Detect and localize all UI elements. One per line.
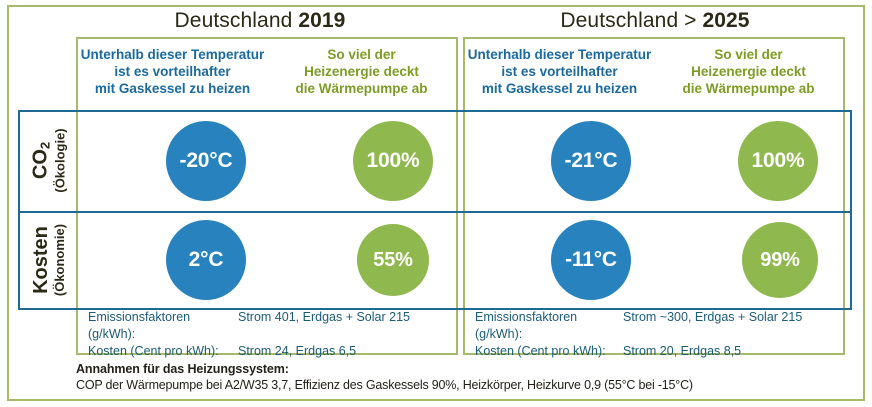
footnote-left-cost-value: Strom 24, Erdgas 6,5 bbox=[238, 343, 456, 360]
footnote-right-cost-row: Kosten (Cent pro kWh): Strom 20, Erdgas … bbox=[475, 343, 843, 360]
title-left-year: 2019 bbox=[298, 9, 345, 32]
footnote-left-emission-row: Emissionsfaktoren (g/kWh): Strom 401, Er… bbox=[88, 309, 456, 343]
footnote-right-emission-label: Emissionsfaktoren (g/kWh): bbox=[475, 309, 623, 343]
circle-kosten-temperature-right: -11°C bbox=[551, 220, 631, 300]
matrix-row-co2: CO2 (Ökologie) -20°C 100% -21°C 100% bbox=[20, 112, 850, 213]
title-right-prefix: Deutschland > bbox=[560, 9, 702, 32]
row-label-co2-main: CO2 bbox=[31, 128, 53, 192]
footnote-left-cost-row: Kosten (Cent pro kWh): Strom 24, Erdgas … bbox=[88, 343, 456, 360]
title-left: Deutschland 2019 bbox=[60, 8, 460, 34]
title-left-prefix: Deutschland bbox=[175, 9, 299, 32]
row-label-kosten: Kosten (Ökonomie) bbox=[20, 211, 78, 308]
column-headers-right: Unterhalb dieser Temperatur ist es vorte… bbox=[465, 39, 843, 110]
title-right-year: 2025 bbox=[702, 9, 749, 32]
row-label-co2: CO2 (Ökologie) bbox=[20, 112, 78, 209]
footnote-right-emission-row: Emissionsfaktoren (g/kWh): Strom ~300, E… bbox=[475, 309, 843, 343]
circle-co2-share-right: 100% bbox=[738, 121, 818, 201]
assumptions-block: Annahmen für das Heizungssystem: COP der… bbox=[76, 361, 856, 394]
column-header-temperature-right: Unterhalb dieser Temperatur ist es vorte… bbox=[465, 39, 654, 110]
matrix-row-kosten: Kosten (Ökonomie) 2°C 55% -11°C 99% bbox=[20, 211, 850, 310]
column-headers-left: Unterhalb dieser Temperatur ist es vorte… bbox=[78, 39, 456, 110]
assumptions-title: Annahmen für das Heizungssystem: bbox=[76, 361, 856, 377]
circle-co2-temperature-left: -20°C bbox=[166, 121, 246, 201]
circle-co2-share-left: 100% bbox=[353, 121, 433, 201]
circle-kosten-share-left: 55% bbox=[357, 224, 429, 296]
circle-kosten-temperature-left: 2°C bbox=[166, 220, 246, 300]
footnote-left-emission-value: Strom 401, Erdgas + Solar 215 bbox=[238, 309, 456, 343]
column-header-heatpump-left: So viel der Heizenergie deckt die Wärmep… bbox=[267, 39, 456, 110]
column-header-temperature-left: Unterhalb dieser Temperatur ist es vorte… bbox=[78, 39, 267, 110]
footnote-right-cost-label: Kosten (Cent pro kWh): bbox=[475, 343, 623, 360]
footnote-right-emission-value: Strom ~300, Erdgas + Solar 215 bbox=[623, 309, 843, 343]
footnote-right-cost-value: Strom 20, Erdgas 8,5 bbox=[623, 343, 843, 360]
circle-co2-temperature-right: -21°C bbox=[551, 121, 631, 201]
row-label-co2-subscript: 2 bbox=[38, 142, 53, 149]
data-matrix: CO2 (Ökologie) -20°C 100% -21°C 100% Kos… bbox=[18, 110, 852, 310]
footnote-left-cost-label: Kosten (Cent pro kWh): bbox=[88, 343, 238, 360]
circle-kosten-share-right: 99% bbox=[742, 222, 818, 298]
row-label-kosten-main: Kosten bbox=[31, 223, 52, 295]
column-header-heatpump-right: So viel der Heizenergie deckt die Wärmep… bbox=[654, 39, 843, 110]
assumptions-text: COP der Wärmepumpe bei A2/W35 3,7, Effiz… bbox=[76, 377, 856, 394]
row-label-co2-sub: (Ökologie) bbox=[53, 128, 68, 192]
title-right: Deutschland > 2025 bbox=[455, 8, 855, 34]
infographic-root: Deutschland 2019 Deutschland > 2025 Unte… bbox=[0, 0, 872, 407]
row-label-kosten-sub: (Ökonomie) bbox=[52, 223, 67, 295]
footnote-left-emission-label: Emissionsfaktoren (g/kWh): bbox=[88, 309, 238, 343]
